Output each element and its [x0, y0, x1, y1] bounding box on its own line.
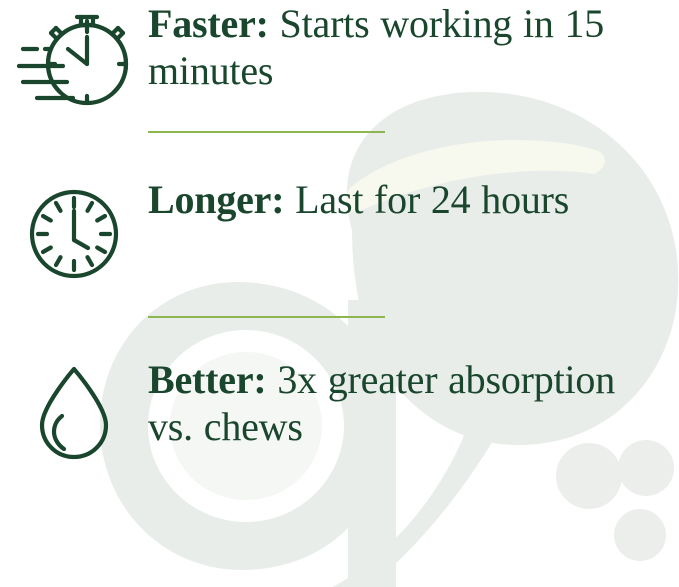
- text-cell-better: Better: 3x greater absorption vs. chews: [148, 356, 679, 450]
- benefit-row-faster: Faster: Starts working in 15 minutes: [0, 0, 679, 120]
- icon-cell-longer: [0, 176, 148, 296]
- benefit-label-better: Better:: [148, 357, 267, 402]
- benefit-text-longer: Longer: Last for 24 hours: [148, 176, 669, 223]
- benefit-row-longer: Longer: Last for 24 hours: [0, 176, 679, 296]
- text-cell-faster: Faster: Starts working in 15 minutes: [148, 0, 679, 94]
- benefits-infographic: Faster: Starts working in 15 minutes: [0, 0, 679, 587]
- droplet-icon: [32, 362, 116, 462]
- benefit-row-better: Better: 3x greater absorption vs. chews: [0, 356, 679, 476]
- icon-cell-better: [0, 356, 148, 476]
- benefit-text-better: Better: 3x greater absorption vs. chews: [148, 356, 669, 450]
- benefit-label-faster: Faster:: [148, 1, 269, 46]
- clock-icon: [24, 184, 124, 284]
- benefit-body-longer: Last for 24 hours: [284, 177, 569, 222]
- text-cell-longer: Longer: Last for 24 hours: [148, 176, 679, 223]
- icon-cell-faster: [0, 0, 148, 120]
- benefit-text-faster: Faster: Starts working in 15 minutes: [148, 0, 669, 94]
- benefits-list: Faster: Starts working in 15 minutes: [0, 0, 679, 587]
- stopwatch-icon: [15, 4, 133, 116]
- benefit-label-longer: Longer:: [148, 177, 284, 222]
